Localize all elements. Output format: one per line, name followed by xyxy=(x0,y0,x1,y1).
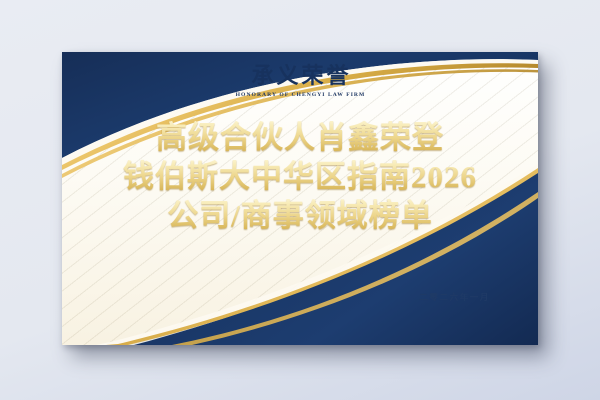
brand-subtitle: HONORARY OF CHENGYI LAW FIRM xyxy=(62,92,538,98)
certificate-content: 承义荣誉 HONORARY OF CHENGYI LAW FIRM 高级合伙人肖… xyxy=(62,52,538,345)
image-canvas: 承义荣誉 HONORARY OF CHENGYI LAW FIRM 高级合伙人肖… xyxy=(0,0,600,400)
brand-block: 承义荣誉 HONORARY OF CHENGYI LAW FIRM xyxy=(62,64,538,98)
headline-line-3: 公司/商事领域榜单 xyxy=(62,196,538,235)
headline-line-1: 高级合伙人肖鑫荣登 xyxy=(62,118,538,157)
headline-line-2: 钱伯斯大中华区指南2026 xyxy=(62,157,538,196)
headline-block: 高级合伙人肖鑫荣登 钱伯斯大中华区指南2026 公司/商事领域榜单 xyxy=(62,118,538,235)
issue-date: 二零二六年一月 xyxy=(419,291,490,303)
brand-title: 承义荣誉 xyxy=(62,64,538,88)
certificate-card: 承义荣誉 HONORARY OF CHENGYI LAW FIRM 高级合伙人肖… xyxy=(62,52,538,345)
